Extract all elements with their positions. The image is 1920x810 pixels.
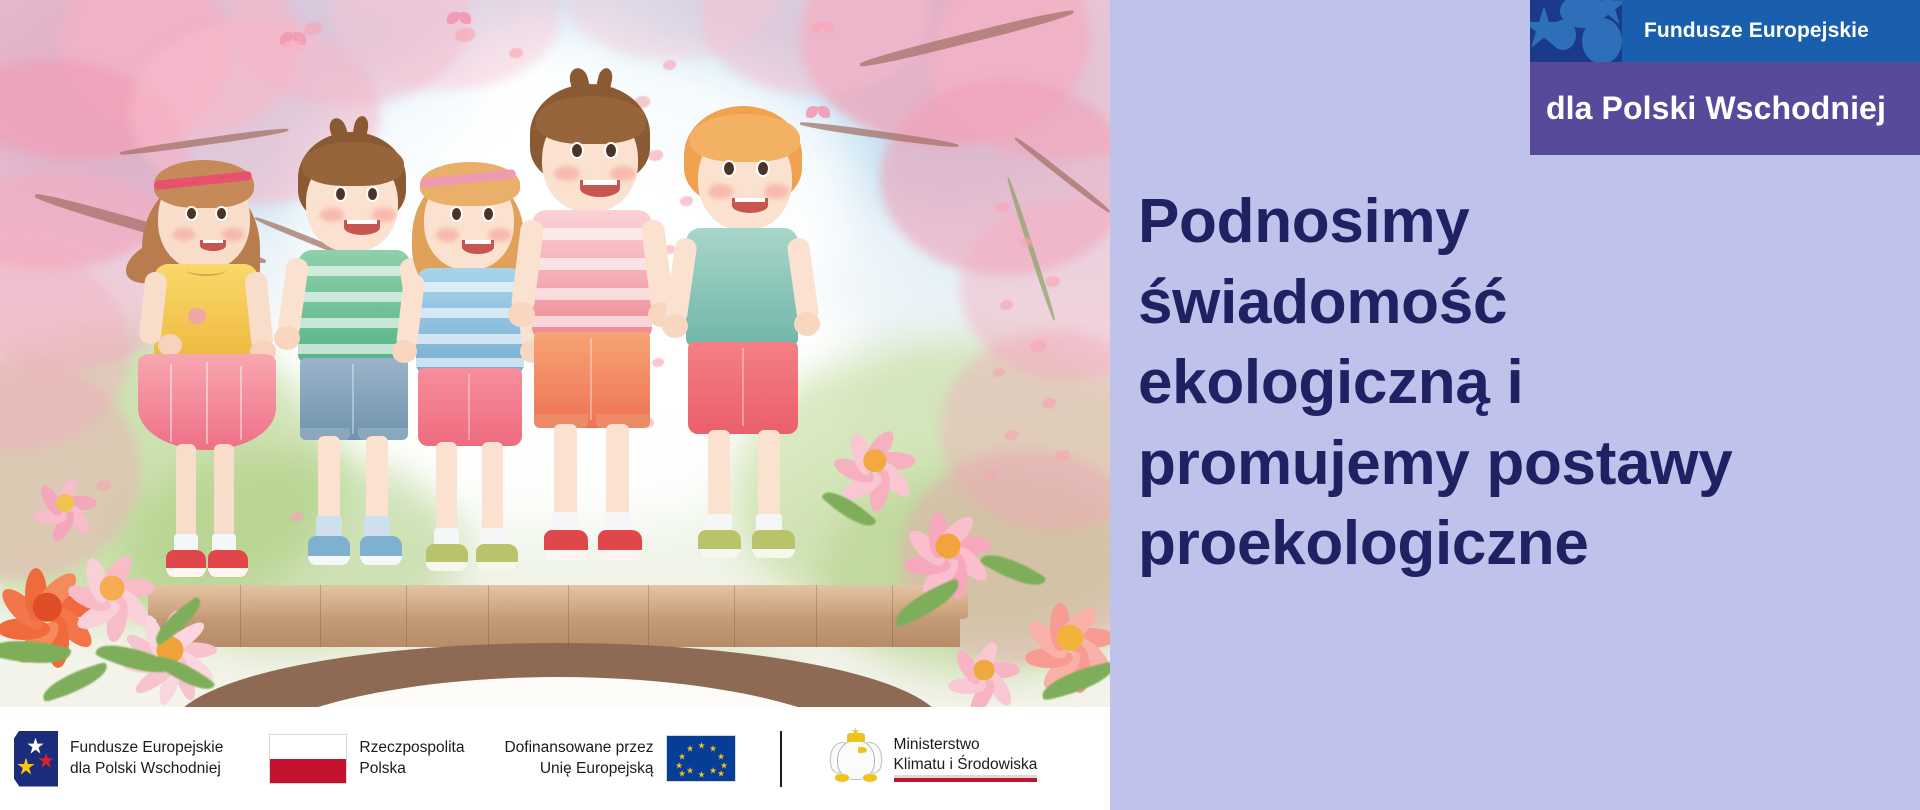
min-footer-line1: Ministerstwo <box>894 735 1038 755</box>
illustration-watercolor-children <box>0 0 1110 707</box>
polish-flag-icon <box>269 734 347 784</box>
ue-footer-line1: Dofinansowane przez <box>504 738 653 758</box>
footer-logo-bar: Fundusze Europejskie dla Polski Wschodni… <box>0 707 1110 810</box>
headline-line-4: promujemy postawy <box>1138 424 1910 505</box>
headline-line-5: proekologiczne <box>1138 504 1910 585</box>
flower-pink-right-2 <box>900 498 996 594</box>
flower-orange <box>0 552 102 662</box>
headline-line-2: świadomość <box>1138 263 1910 344</box>
flower-pink-small <box>30 468 100 538</box>
logo-rzeczpospolita-polska: Rzeczpospolita Polska <box>269 734 464 784</box>
fe-footer-line1: Fundusze Europejskie <box>70 738 223 758</box>
fe-badge-line2: dla Polski Wschodniej <box>1530 62 1920 155</box>
fe-stars-icon <box>14 731 58 787</box>
flower-peach-right <box>1020 588 1110 688</box>
butterfly-icon <box>812 22 834 39</box>
stone-bridge <box>148 585 968 705</box>
butterfly-icon <box>280 32 306 52</box>
logo-dofinansowane-przez-ue: Dofinansowane przez Unię Europejską <box>504 735 735 782</box>
fundusze-europejskie-mark-icon <box>1530 0 1622 62</box>
left-panel: Fundusze Europejskie dla Polski Wschodni… <box>0 0 1110 810</box>
logo-fundusze-europejskie: Fundusze Europejskie dla Polski Wschodni… <box>14 731 223 787</box>
headline-line-1: Podnosimy <box>1138 182 1910 263</box>
headline-line-3: ekologiczną i <box>1138 343 1910 424</box>
rp-footer-line2: Polska <box>359 759 464 779</box>
child-boy-teal <box>668 98 848 598</box>
ministry-rule-red <box>894 778 1038 782</box>
butterfly-icon <box>447 12 471 30</box>
fe-badge-row-top: Fundusze Europejskie <box>1530 0 1920 62</box>
fe-badge-line1: Fundusze Europejskie <box>1622 0 1920 62</box>
poster-root: Fundusze Europejskie dla Polski Wschodni… <box>0 0 1920 810</box>
rp-footer-line1: Rzeczpospolita <box>359 738 464 758</box>
fe-footer-line2: dla Polski Wschodniej <box>70 759 223 779</box>
polish-eagle-icon <box>828 730 884 788</box>
logo-ministerstwo-klimatu-i-srodowiska: Ministerstwo Klimatu i Środowiska <box>828 730 1038 788</box>
ue-footer-line2: Unię Europejską <box>504 759 653 779</box>
footer-divider <box>780 731 782 787</box>
right-panel: Fundusze Europejskie dla Polski Wschodni… <box>1110 0 1920 810</box>
fundusze-europejskie-badge: Fundusze Europejskie dla Polski Wschodni… <box>1490 0 1920 155</box>
eu-flag-icon <box>666 735 736 782</box>
min-footer-line2: Klimatu i Środowiska <box>894 755 1038 775</box>
page-title: Podnosimy świadomość ekologiczną i promu… <box>1138 182 1910 585</box>
